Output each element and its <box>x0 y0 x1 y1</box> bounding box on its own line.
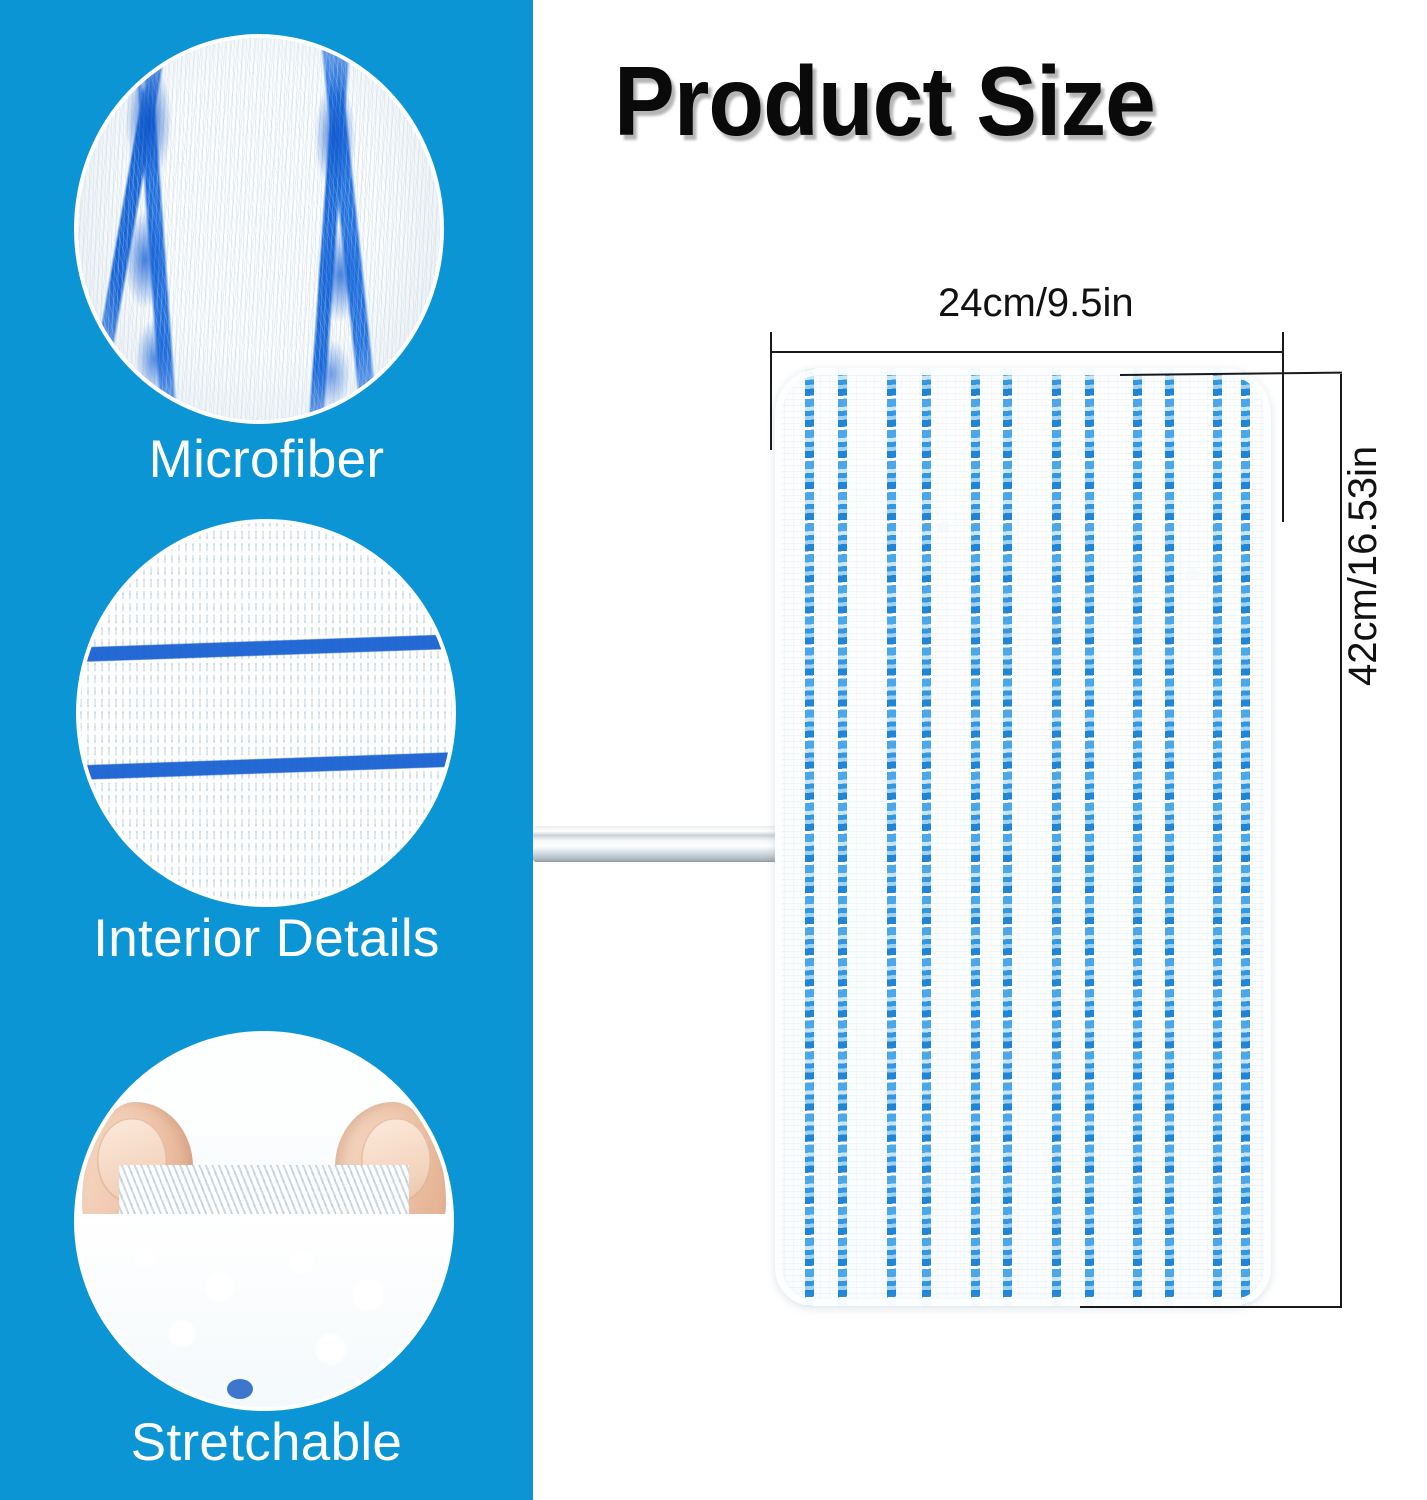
plush-fabric <box>78 1214 450 1407</box>
height-extension-line-bottom <box>1080 1306 1342 1308</box>
width-tick-right <box>1282 332 1284 522</box>
elastic-band-stretch-photo <box>78 1035 450 1407</box>
mop-pad <box>775 368 1271 1306</box>
mop-handle-rod <box>533 826 795 862</box>
feature-sidebar: Microfiber Interior Details <box>0 0 533 1500</box>
height-dimension-label: 42cm/16.53in <box>1341 446 1386 686</box>
product-size-infographic: Microfiber Interior Details <box>0 0 1427 1500</box>
feature-label-microfiber: Microfiber <box>0 433 533 486</box>
width-dimension-label: 24cm/9.5in <box>938 281 1134 326</box>
page-title: Product Size <box>614 52 1155 150</box>
width-dimension-line <box>770 351 1284 353</box>
feature-label-interior-details: Interior Details <box>0 912 533 965</box>
microfiber-closeup-photo <box>78 38 440 420</box>
width-tick-left <box>770 332 772 450</box>
feature-label-stretchable: Stretchable <box>0 1416 533 1469</box>
pad-plush-edge <box>775 368 1271 1306</box>
interior-weave-closeup-photo <box>80 523 452 903</box>
